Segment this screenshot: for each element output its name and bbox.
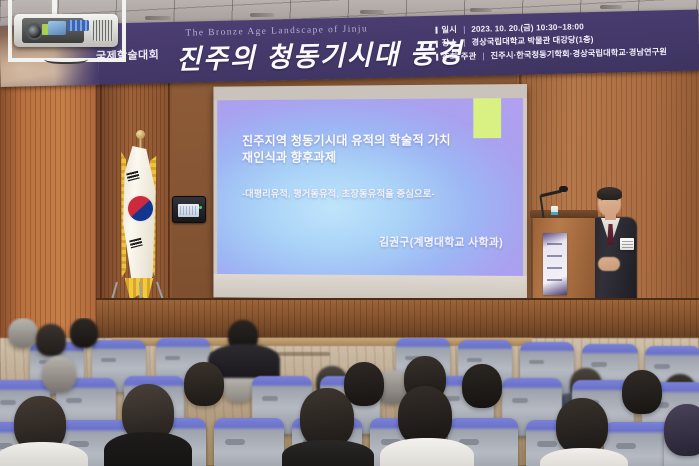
info-divider: | [480, 49, 486, 63]
audience-head [398, 386, 452, 446]
info-divider: | [461, 36, 467, 50]
cup-band [551, 212, 558, 215]
ceiling-light [360, 10, 384, 14]
conference-photograph: 진주지역 청동기시대 유적의 학술적 가치 재인식과 향후과제 -대평리유적, … [0, 0, 699, 466]
ceiling-projector [14, 14, 118, 47]
audience-head [184, 362, 224, 406]
podium [533, 215, 595, 310]
podium-banner-text-line [547, 243, 562, 245]
bullet-icon [436, 54, 438, 61]
ceiling-light [250, 13, 274, 17]
projection-screen: 진주지역 청동기시대 유적의 학술적 가치 재인식과 향후과제 -대평리유적, … [213, 84, 527, 300]
badge-text-line [622, 244, 633, 245]
audience-shoulders [380, 438, 474, 466]
left-wall-panel [0, 62, 104, 362]
speaker-name-badge [620, 238, 634, 250]
audience-head [344, 362, 384, 406]
audience-head [42, 356, 76, 392]
projector-label-strip [67, 20, 89, 31]
bullet-icon [435, 27, 437, 34]
info-value: 진주시·한국청동기학회·경상국립대학교·경남연구원 [490, 45, 667, 63]
audience-head [36, 324, 66, 356]
audience-head [70, 318, 98, 348]
podium-banner [543, 233, 567, 295]
ceiling-light [600, 5, 622, 9]
screen-bottom-border [213, 274, 527, 300]
banner-korean-title: 진주의 청동기시대 풍경 [176, 31, 464, 77]
slide-title: 진주지역 청동기시대 유적의 학술적 가치 재인식과 향후과제 [242, 132, 507, 166]
audience-shoulders [104, 432, 192, 466]
microphone-icon [559, 186, 568, 192]
badge-text-line [622, 241, 633, 242]
slide-author: 김권구(계명대학교 사학과) [379, 234, 503, 250]
slide-title-line-2: 재인식과 향후과제 [242, 149, 507, 167]
slide-title-line-1: 진주지역 청동기시대 유적의 학술적 가치 [242, 132, 507, 150]
flag-finial-icon [136, 130, 145, 139]
audience-head [556, 398, 608, 454]
info-label: 주최·주관 [442, 50, 477, 64]
podium-top-surface [530, 210, 598, 218]
projector-vent [93, 20, 113, 41]
projector-panel [48, 21, 66, 35]
seat[interactable] [214, 418, 284, 466]
audience-head [462, 364, 502, 408]
ceiling-light [145, 16, 171, 20]
wall-control-panel[interactable] [172, 196, 206, 223]
badge-text-line [622, 247, 633, 248]
ceiling-light [470, 8, 492, 12]
info-divider: | [461, 23, 467, 37]
bullet-icon [436, 40, 438, 47]
projector-lens-icon [26, 23, 43, 40]
presentation-slide: 진주지역 청동기시대 유적의 학술적 가치 재인식과 향후과제 -대평리유적, … [217, 98, 523, 276]
audience-area [0, 318, 699, 466]
info-label: 일시 [441, 23, 457, 37]
info-label: 장소 [442, 37, 458, 51]
slide-subtitle: -대평리유적, 평거동유적, 초장동유적을 중심으로- [242, 186, 507, 200]
banner-info-block: 일시 | 2023. 10. 20.(금) 10:30~18:00 장소 | 경… [435, 18, 667, 64]
audience-head [622, 370, 662, 414]
audience-shoulders [0, 442, 88, 466]
audience-head [300, 388, 354, 448]
audience-head [664, 404, 699, 456]
eyeglasses-icon [601, 199, 618, 204]
podium-banner-text-line [547, 267, 562, 269]
podium-banner-text-line [547, 279, 562, 281]
control-panel-display [178, 204, 199, 217]
projector-cable [44, 52, 88, 64]
speaker-hands [598, 257, 620, 271]
audience-shoulders [282, 440, 374, 466]
audience-head [8, 318, 38, 348]
podium-banner-text-line [547, 255, 562, 257]
power-led-icon [199, 206, 202, 209]
